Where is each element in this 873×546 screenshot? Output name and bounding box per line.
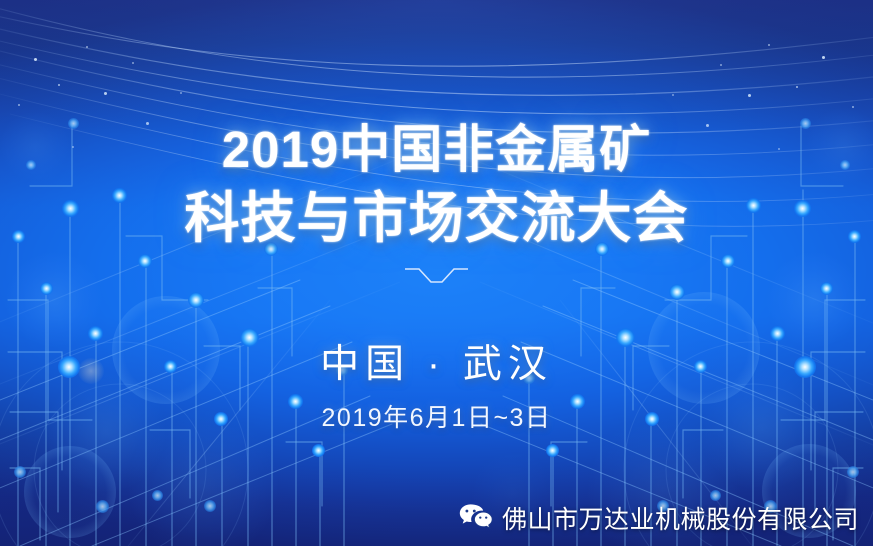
event-location: 中国 · 武汉 [0,333,873,389]
title-line-1: 2019中国非金属矿 [0,124,873,175]
watermark: 佛山市万达业机械股份有限公司 [459,500,859,536]
wechat-icon [459,503,493,533]
title-block: 2019中国非金属矿 科技与市场交流大会 [0,124,873,246]
conference-poster: 2019中国非金属矿 科技与市场交流大会 [0,0,873,546]
poster-content: 2019中国非金属矿 科技与市场交流大会 [0,0,873,546]
divider-ornament [0,258,873,292]
event-date: 2019年6月1日~3日 [0,398,873,434]
watermark-company-name: 佛山市万达业机械股份有限公司 [502,500,859,536]
title-line-2: 科技与市场交流大会 [0,191,873,246]
